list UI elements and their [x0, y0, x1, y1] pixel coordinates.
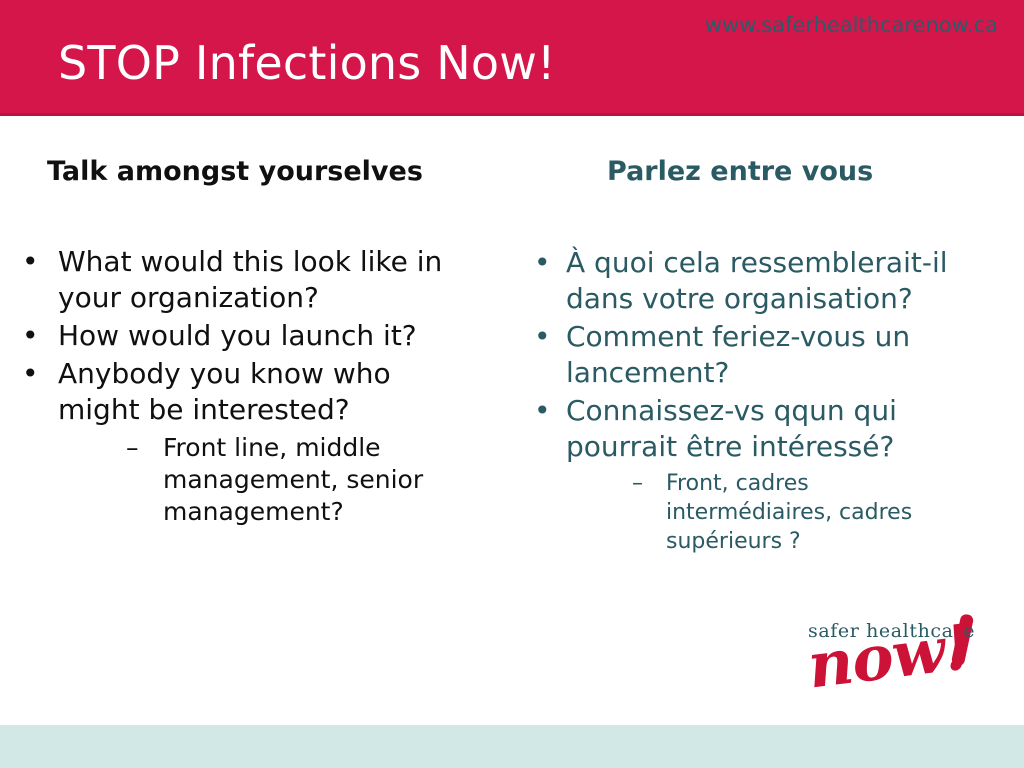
list-item: • Connaissez-vs qqun qui pourrait être i…: [510, 393, 1010, 556]
right-column-heading: Parlez entre vous: [607, 155, 1010, 189]
list-item: – Front, cadres intermédiaires, cadres s…: [566, 469, 980, 556]
bullet-marker-icon: •: [22, 318, 39, 354]
bullet-text: Anybody you know who might be interested…: [58, 357, 391, 426]
bullet-marker-icon: •: [22, 356, 39, 392]
left-bullet-list: • What would this look like in your orga…: [0, 244, 500, 528]
right-bullet-list: • À quoi cela ressemblerait-il dans votr…: [510, 245, 1010, 556]
bullet-marker-icon: •: [534, 393, 551, 429]
bullet-text: Comment feriez-vous un lancement?: [566, 320, 910, 389]
left-column: Talk amongst yourselves • What would thi…: [0, 155, 500, 530]
safer-healthcare-now-logo: safer healthcare now!: [800, 612, 1000, 712]
subbullet-text: Front line, middle management, senior ma…: [163, 433, 423, 526]
title-banner-underline: [0, 113, 1024, 116]
footer-website-url: www.saferhealthcarenow.ca: [705, 12, 998, 38]
slide-canvas: STOP Infections Now! Talk amongst yourse…: [0, 0, 1024, 768]
dash-marker-icon: –: [632, 469, 643, 498]
right-column: Parlez entre vous • À quoi cela ressembl…: [510, 155, 1010, 558]
list-item: • What would this look like in your orga…: [0, 244, 500, 316]
slide-title: STOP Infections Now!: [58, 36, 556, 90]
right-subbullet-list: – Front, cadres intermédiaires, cadres s…: [566, 469, 980, 556]
bullet-marker-icon: •: [22, 244, 39, 280]
bullet-text: À quoi cela ressemblerait-il dans votre …: [566, 246, 948, 315]
bullet-marker-icon: •: [534, 319, 551, 355]
list-item: – Front line, middle management, senior …: [58, 432, 476, 528]
subbullet-text: Front, cadres intermédiaires, cadres sup…: [666, 471, 912, 554]
list-item: • À quoi cela ressemblerait-il dans votr…: [510, 245, 1010, 317]
bullet-marker-icon: •: [534, 245, 551, 281]
dash-marker-icon: –: [126, 432, 139, 464]
list-item: • Comment feriez-vous un lancement?: [510, 319, 1010, 391]
bullet-text: What would this look like in your organi…: [58, 245, 442, 314]
left-subbullet-list: – Front line, middle management, senior …: [58, 432, 476, 528]
left-column-heading: Talk amongst yourselves: [47, 155, 500, 189]
footer-bar: [0, 725, 1024, 768]
bullet-text: Connaissez-vs qqun qui pourrait être int…: [566, 394, 897, 463]
list-item: • How would you launch it?: [0, 318, 500, 354]
list-item: • Anybody you know who might be interest…: [0, 356, 500, 528]
bullet-text: How would you launch it?: [58, 319, 417, 352]
